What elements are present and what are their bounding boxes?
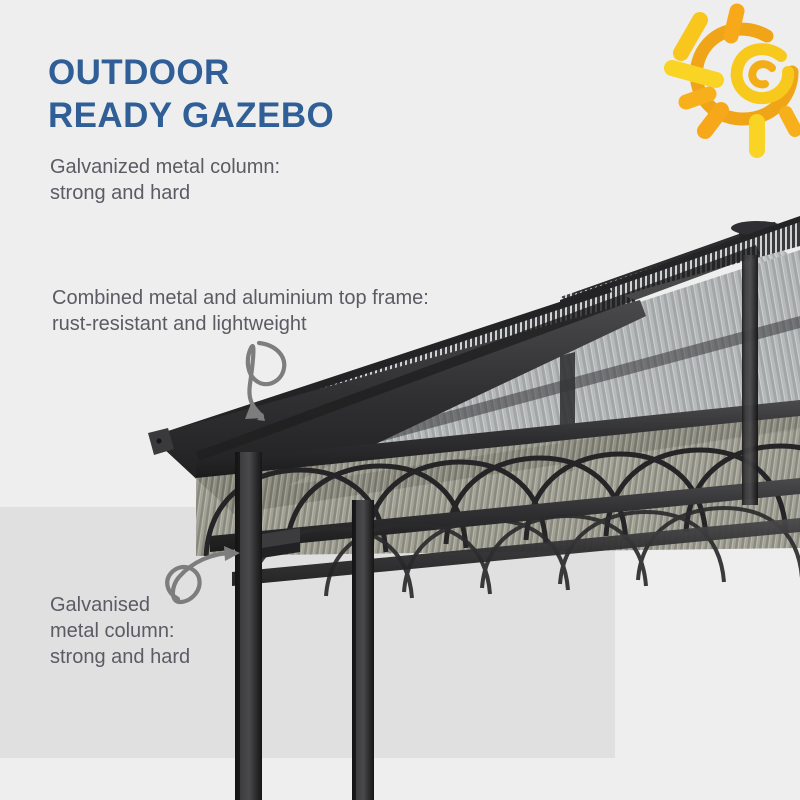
product-banner: OUTDOOR READY GAZEBO Galvanized metal co… bbox=[0, 0, 800, 800]
annotation-galvanised-column-bottom: Galvanised metal column: strong and hard bbox=[50, 592, 190, 670]
annotation-galvanized-column-top: Galvanized metal column: strong and hard bbox=[50, 154, 280, 206]
annotation-combined-frame: Combined metal and aluminium top frame: … bbox=[52, 285, 429, 337]
page-title: OUTDOOR READY GAZEBO bbox=[48, 52, 334, 137]
curly-arrow-down-icon bbox=[245, 343, 284, 421]
